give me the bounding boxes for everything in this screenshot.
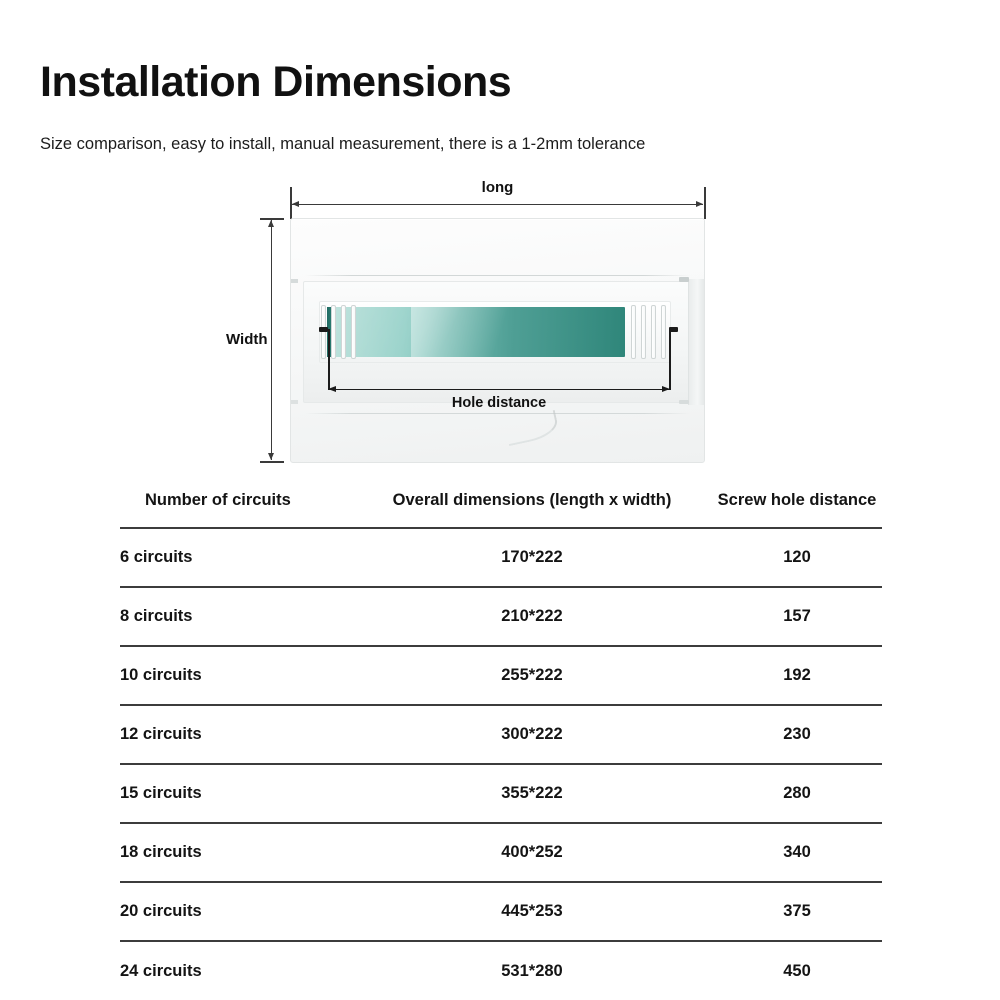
table-row: 8 circuits 210*222 157	[120, 587, 882, 646]
cell-circuits: 15 circuits	[120, 764, 352, 823]
header-screw-hole-distance: Screw hole distance	[712, 482, 882, 528]
width-dimension-arrow	[271, 220, 272, 460]
hole-extension-line-left	[328, 329, 330, 390]
cell-dimensions: 300*222	[352, 705, 712, 764]
cell-circuits: 18 circuits	[120, 823, 352, 882]
box-right-edge-strip	[688, 279, 704, 405]
cell-screw-hole: 120	[712, 528, 882, 587]
box-right-notch-bottom	[679, 400, 689, 404]
table-header: Number of circuits Overall dimensions (l…	[120, 482, 882, 528]
vent-slot	[351, 305, 356, 359]
box-seam-top	[305, 275, 690, 276]
cell-dimensions: 445*253	[352, 882, 712, 941]
breaker-window-glass	[327, 307, 625, 357]
width-extension-line-bottom	[260, 461, 284, 463]
header-number-of-circuits: Number of circuits	[120, 482, 352, 528]
vent-slots-right	[631, 305, 666, 359]
cell-screw-hole: 340	[712, 823, 882, 882]
vent-slots-left	[321, 305, 356, 359]
width-dimension-label: Width	[226, 331, 268, 348]
vent-slot	[641, 305, 646, 359]
cell-circuits: 8 circuits	[120, 587, 352, 646]
specifications-table: Number of circuits Overall dimensions (l…	[120, 482, 882, 1000]
cell-circuits: 6 circuits	[120, 528, 352, 587]
hole-distance-arrow	[329, 389, 669, 390]
cell-dimensions: 355*222	[352, 764, 712, 823]
table-row: 15 circuits 355*222 280	[120, 764, 882, 823]
cell-dimensions: 531*280	[352, 941, 712, 1000]
lid-reflection-detail	[504, 410, 560, 446]
cell-circuits: 24 circuits	[120, 941, 352, 1000]
length-extension-line-right	[704, 187, 706, 219]
cell-circuits: 12 circuits	[120, 705, 352, 764]
length-dimension-arrow	[292, 204, 703, 205]
hole-extension-line-right	[669, 329, 671, 390]
table-row: 24 circuits 531*280 450	[120, 941, 882, 1000]
box-seam-bottom	[305, 413, 690, 414]
cell-screw-hole: 230	[712, 705, 882, 764]
cell-dimensions: 210*222	[352, 587, 712, 646]
table-row: 12 circuits 300*222 230	[120, 705, 882, 764]
cell-circuits: 10 circuits	[120, 646, 352, 705]
cell-screw-hole: 375	[712, 882, 882, 941]
vent-slot	[651, 305, 656, 359]
screw-hole-marker-left	[319, 327, 328, 332]
vent-slot	[341, 305, 346, 359]
cell-dimensions: 170*222	[352, 528, 712, 587]
box-left-tab-bottom	[291, 400, 298, 404]
cell-circuits: 20 circuits	[120, 882, 352, 941]
cell-screw-hole: 450	[712, 941, 882, 1000]
table-row: 20 circuits 445*253 375	[120, 882, 882, 941]
header-overall-dimensions: Overall dimensions (length x width)	[352, 482, 712, 528]
vent-slot	[661, 305, 666, 359]
hole-distance-label: Hole distance	[329, 395, 669, 411]
length-dimension-label: long	[290, 179, 705, 196]
table-row: 10 circuits 255*222 192	[120, 646, 882, 705]
installation-dimensions-page: Installation Dimensions Size comparison,…	[0, 0, 1000, 1000]
box-right-notch-top	[679, 277, 689, 282]
cell-dimensions: 255*222	[352, 646, 712, 705]
box-left-tab-top	[291, 279, 298, 283]
cell-screw-hole: 192	[712, 646, 882, 705]
cell-screw-hole: 157	[712, 587, 882, 646]
vent-slot	[321, 305, 326, 359]
table-body: 6 circuits 170*222 120 8 circuits 210*22…	[120, 528, 882, 1000]
product-dimension-diagram: long Width	[0, 0, 1000, 480]
vent-slot	[631, 305, 636, 359]
cell-screw-hole: 280	[712, 764, 882, 823]
distribution-box-body: Hole distance	[290, 218, 705, 463]
vent-slot	[331, 305, 336, 359]
table-row: 6 circuits 170*222 120	[120, 528, 882, 587]
cell-dimensions: 400*252	[352, 823, 712, 882]
table-header-row: Number of circuits Overall dimensions (l…	[120, 482, 882, 528]
table-row: 18 circuits 400*252 340	[120, 823, 882, 882]
